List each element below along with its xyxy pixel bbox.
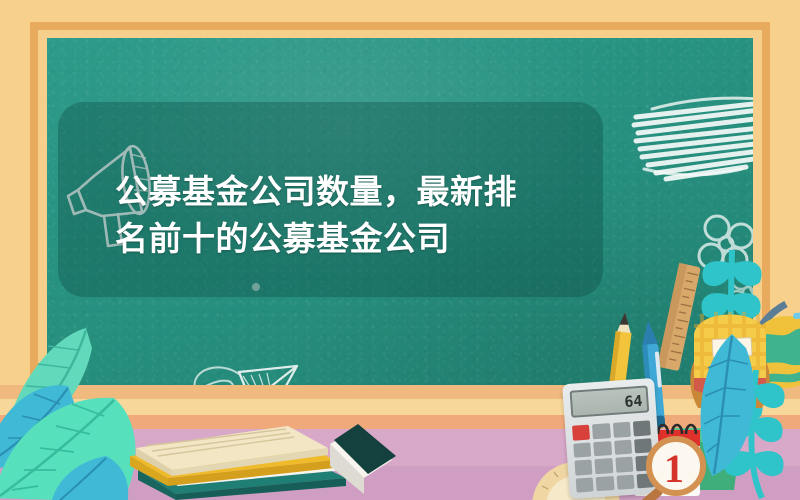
calculator-key-ac[interactable]: [572, 425, 590, 441]
calculator-key[interactable]: [595, 458, 613, 474]
calculator-key[interactable]: [574, 459, 592, 475]
calculator-display: 64: [570, 385, 650, 417]
calculator-key[interactable]: [612, 422, 630, 438]
calculator-key[interactable]: [616, 474, 634, 490]
calculator-key[interactable]: [592, 423, 610, 439]
calculator-key[interactable]: [615, 457, 633, 473]
headline-line-2: 名前十的公募基金公司: [115, 220, 450, 257]
page-title: 公募基金公司数量，最新排名前十的公募基金公司: [115, 168, 615, 262]
calculator-key[interactable]: [576, 477, 594, 493]
calculator-key[interactable]: [614, 439, 632, 455]
stacked-books-illustration: [128, 408, 363, 500]
headline-line-1: 公募基金公司数量，最新排: [115, 173, 517, 210]
book-right: [330, 420, 410, 500]
poster-canvas: 公募基金公司数量，最新排名前十的公募基金公司: [0, 0, 800, 500]
calculator-key[interactable]: [593, 441, 611, 457]
blue-leaf-front: [694, 330, 770, 480]
calculator-key[interactable]: [596, 476, 614, 492]
calculator-key[interactable]: [573, 442, 591, 458]
